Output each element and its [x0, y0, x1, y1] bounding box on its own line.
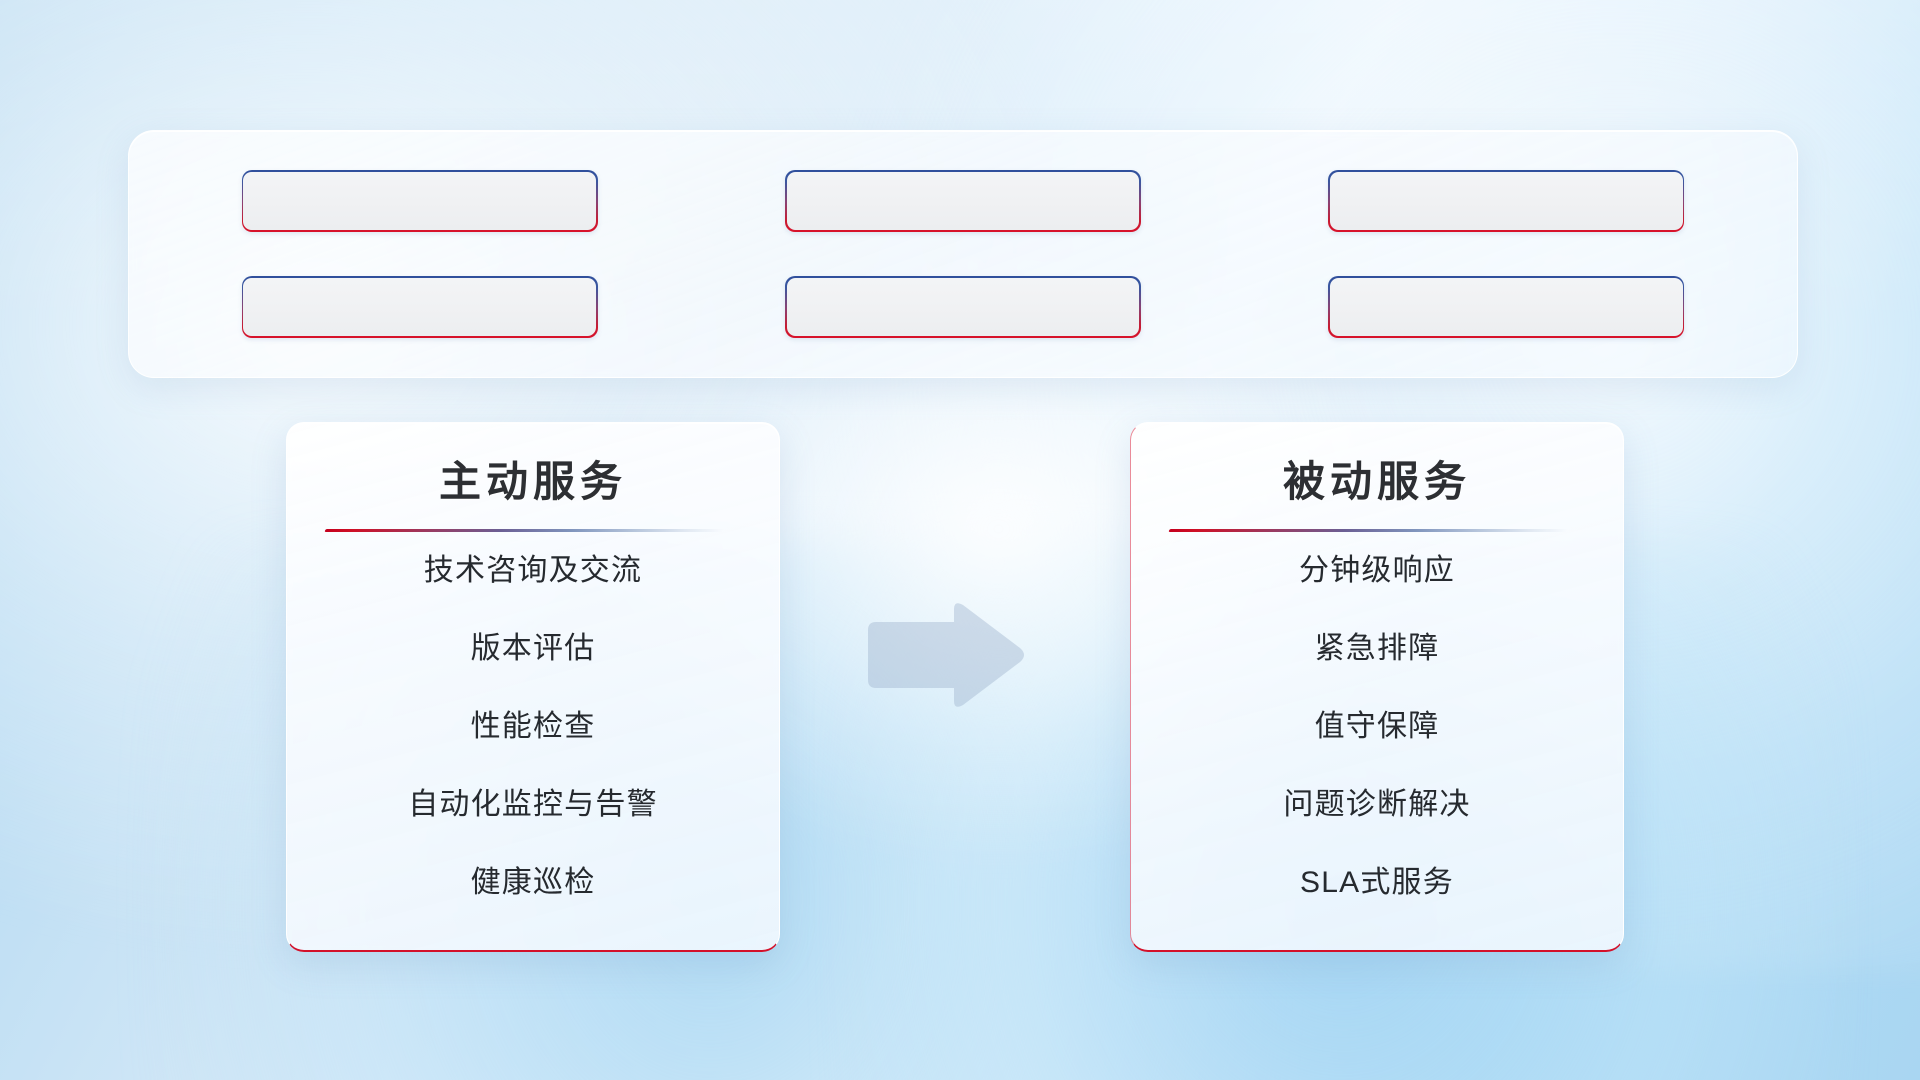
capability-tag-inner: 智能化性能分析 [243, 278, 596, 337]
capability-tag[interactable]: 集中监控平台 [1328, 276, 1684, 338]
capability-tag[interactable]: 自动化巡检工具 [242, 170, 598, 232]
list-item: 值守保障 [1165, 688, 1589, 766]
capability-tag-label: 智能化性能分析 [1407, 188, 1607, 215]
capability-tag-label: 智能化性能分析 [320, 294, 520, 321]
capability-tag-inner: 智能化性能分析 [1330, 172, 1683, 231]
capability-tag-inner: 标准化文档模板 [787, 278, 1140, 337]
list-item: 健康巡检 [321, 844, 745, 922]
list-item: 紧急排障 [1165, 610, 1589, 688]
capability-tag-inner: 自动化性能数据采集 [787, 172, 1140, 231]
list-item: 性能检查 [321, 688, 745, 766]
service-card-reactive[interactable]: 被动服务 分钟级响应 紧急排障 值守保障 问题诊断解决 SLA式服务 [1130, 422, 1624, 952]
service-card-list: 分钟级响应 紧急排障 值守保障 问题诊断解决 SLA式服务 [1165, 532, 1589, 928]
capability-tag[interactable]: 智能化性能分析 [242, 276, 598, 338]
capability-tag-label: 自动化巡检工具 [320, 188, 520, 215]
list-item: 分钟级响应 [1165, 532, 1589, 610]
capability-tag[interactable]: 智能化性能分析 [1328, 170, 1684, 232]
list-item: 技术咨询及交流 [321, 532, 745, 610]
list-item: 问题诊断解决 [1165, 766, 1589, 844]
service-card-title: 主动服务 [321, 449, 745, 509]
capability-tag[interactable]: 自动化性能数据采集 [785, 170, 1141, 232]
capability-tag-label: 标准化文档模板 [863, 294, 1063, 321]
card-title-divider [1168, 529, 1567, 532]
service-card-list: 技术咨询及交流 版本评估 性能检查 自动化监控与告警 健康巡检 [321, 532, 745, 928]
capability-tag-inner: 自动化巡检工具 [243, 172, 596, 231]
list-item: 版本评估 [321, 610, 745, 688]
list-item: 自动化监控与告警 [321, 766, 745, 844]
card-title-divider [324, 529, 723, 532]
capability-tag[interactable]: 标准化文档模板 [785, 276, 1141, 338]
capability-tag-label: 自动化性能数据采集 [835, 188, 1092, 215]
capability-tag-label: 集中监控平台 [1421, 294, 1592, 321]
list-item: SLA式服务 [1165, 844, 1589, 922]
capabilities-panel: 自动化巡检工具 自动化性能数据采集 智能化性能分析 智能化性能分析 标准化文档模… [128, 130, 1798, 378]
diagram-stage: 自动化巡检工具 自动化性能数据采集 智能化性能分析 智能化性能分析 标准化文档模… [0, 0, 1920, 1080]
service-card-proactive[interactable]: 主动服务 技术咨询及交流 版本评估 性能检查 自动化监控与告警 健康巡检 [286, 422, 780, 952]
capability-tag-inner: 集中监控平台 [1330, 278, 1683, 337]
flow-arrow [858, 600, 1028, 710]
service-card-title: 被动服务 [1165, 449, 1589, 509]
arrow-right-icon [858, 600, 1028, 710]
